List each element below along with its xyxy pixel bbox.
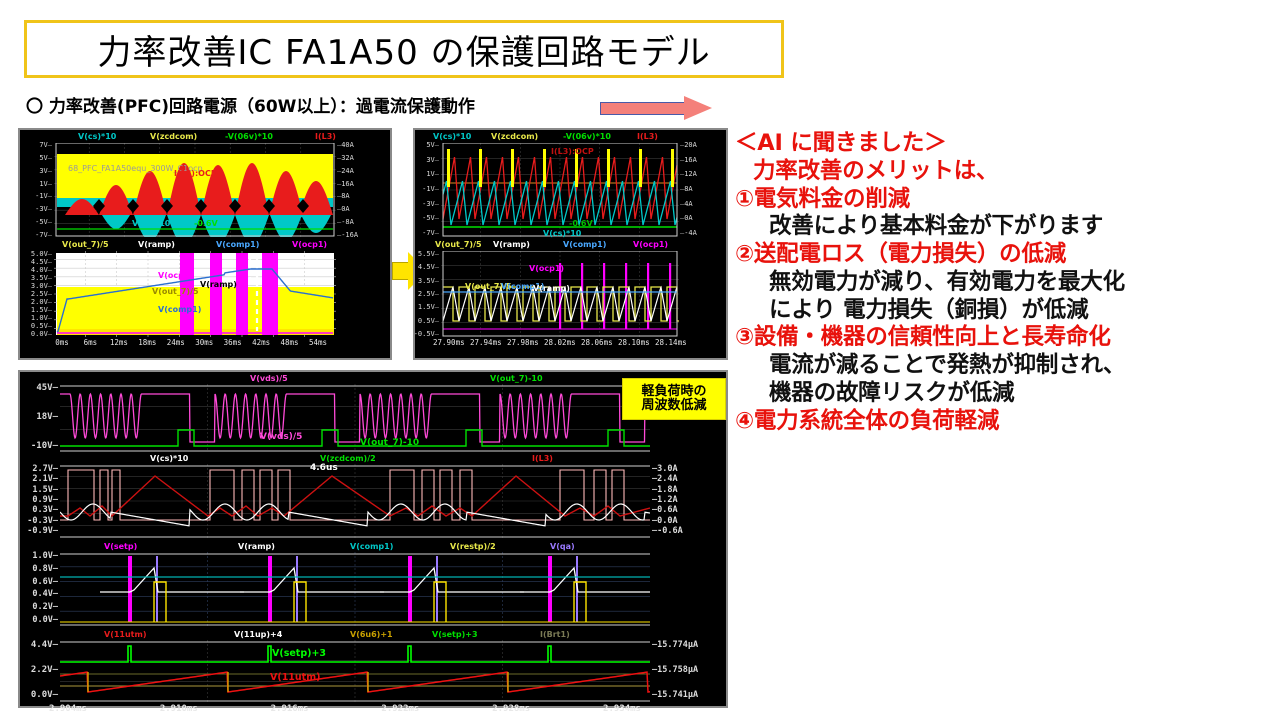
axis-tick-label: 1V–	[411, 170, 439, 178]
legend-label: V(ramp)	[238, 542, 275, 551]
axis-tick-label: –0.6A	[652, 505, 678, 515]
legend-label: V(cs)*10	[433, 132, 471, 141]
note-line-7: により 電力損失（銅損）が低減	[735, 297, 1275, 325]
axis-tick-label: –0A	[337, 205, 350, 213]
legend-label: I(L3)	[315, 132, 336, 141]
legend-label: V(ocp1)	[292, 240, 327, 249]
annotation-ocp: I(L3):OCP	[174, 169, 217, 178]
axis-tick-label: –40A	[337, 141, 354, 149]
annotation-ocp1: V(ocp1)	[158, 271, 193, 280]
axis-tick-label: 18ms	[133, 338, 161, 347]
legend-label: V(out_7)/5	[62, 240, 109, 249]
axis-tick-label: 3V–	[24, 167, 52, 175]
legend-label: V(setp)+3	[432, 630, 478, 639]
axis-tick-label: 1.5V–	[26, 485, 58, 495]
annotation-ocp: I(L3):OCP	[551, 147, 594, 156]
page-title: 力率改善IC FA1A50 の保護回路モデル	[97, 25, 710, 74]
legend-label: -V(06v)*10	[563, 132, 611, 141]
axis-tick-label: 1.0V–	[26, 551, 58, 561]
legend-label: -V(06v)*10	[225, 132, 273, 141]
scope-top-left[interactable]: V(cs)*10V(zcdcom)-V(06v)*10I(L3)7V–5V–3V…	[18, 128, 392, 360]
waveform-bottom-row3	[60, 552, 650, 626]
legend-label: V(ramp)	[138, 240, 175, 249]
axis-tick-label: 36ms	[219, 338, 247, 347]
legend-label: V(zcdcom)/2	[320, 454, 376, 463]
axis-tick-label: 3V–	[411, 156, 439, 164]
axis-tick-label: –16A	[337, 180, 354, 188]
axis-tick-label: -3V–	[24, 205, 52, 213]
axis-tick-label: 2.910ms	[155, 704, 203, 714]
axis-tick-label: –0.0A	[652, 516, 678, 526]
waveform-top-right-upper	[441, 143, 679, 237]
axis-tick-label: 2.5V–	[411, 290, 439, 298]
subtitle-text: 〇 力率改善(PFC)回路電源（60W以上）：過電流保護動作	[26, 92, 475, 117]
legend-label: V(cs)*10	[150, 454, 188, 463]
note-line-1: ＜AI に聞きました＞	[735, 130, 1275, 158]
annotation-11utm: V(11utm)	[270, 672, 320, 683]
axis-tick-label: 12ms	[105, 338, 133, 347]
note-line-5: ②送配電ロス（電力損失）の低減	[735, 241, 1275, 269]
axis-tick-label: –-0.6A	[652, 526, 683, 536]
annotation-ramp: V(ramp)	[200, 280, 237, 289]
axis-tick-label: 28.02ms	[544, 338, 572, 347]
slide-root: 力率改善IC FA1A50 の保護回路モデル 〇 力率改善(PFC)回路電源（6…	[0, 0, 1280, 720]
axis-tick-label: –2.4A	[652, 474, 678, 484]
legend-label: V(6u6)+1	[350, 630, 393, 639]
legend-label: V(vds)/5	[250, 374, 288, 383]
legend-label: V(ramp)	[493, 240, 530, 249]
note-line-10: 機器の故障リスクが低減	[735, 380, 1275, 408]
axis-tick-label: 1.5V–	[411, 303, 439, 311]
legend-label: V(restp)/2	[450, 542, 496, 551]
axis-tick-label: –0A	[680, 214, 693, 222]
axis-tick-label: 4.4V–	[28, 640, 58, 650]
axis-tick-label: 2.0V–	[24, 298, 52, 306]
axis-tick-label: –-4A	[680, 229, 697, 237]
axis-tick-label: –4A	[680, 200, 693, 208]
axis-tick-label: -1V–	[24, 192, 52, 200]
axis-tick-label: -7V–	[411, 229, 439, 237]
axis-tick-label: 27.90ms	[433, 338, 461, 347]
axis-tick-label: –-8A	[337, 218, 354, 226]
legend-label: V(comp1)	[563, 240, 606, 249]
axis-tick-label: –24A	[337, 167, 354, 175]
axis-tick-label: –8A	[337, 192, 350, 200]
legend-label: V(zcdcom)	[491, 132, 538, 141]
axis-tick-label: 0.9V–	[26, 495, 58, 505]
legend-label: V(qa)	[550, 542, 575, 551]
axis-tick-label: –16A	[680, 156, 697, 164]
legend-label: I(L3)	[637, 132, 658, 141]
axis-tick-label: 0.0V–	[26, 615, 58, 625]
annotation-out7: V(out_7)/5	[152, 287, 199, 296]
axis-tick-label: 3.5V–	[411, 277, 439, 285]
axis-tick-label: –32A	[337, 154, 354, 162]
axis-tick-label: –15.758µA	[652, 665, 698, 675]
annotation-ramp: V(ramp)	[533, 284, 570, 293]
axis-tick-label: 45V–	[28, 383, 58, 393]
axis-tick-label: -5V–	[411, 214, 439, 222]
axis-tick-label: 28.10ms	[618, 338, 646, 347]
axis-tick-label: 0.8V–	[26, 564, 58, 574]
axis-tick-label: 1V–	[24, 180, 52, 188]
note-line-2: 力率改善のメリットは、	[735, 158, 1275, 186]
axis-tick-label: 48ms	[276, 338, 304, 347]
axis-tick-label: 0.2V–	[26, 602, 58, 612]
annotation-4-6us: 4.6us	[310, 463, 338, 473]
note-line-11: ④電力系統全体の負荷軽減	[735, 408, 1275, 436]
axis-tick-label: 42ms	[247, 338, 275, 347]
callout-line-1: 軽負荷時の	[641, 385, 706, 399]
callout-light-load: 軽負荷時の 周波数低減	[622, 378, 726, 420]
annotation-ocp1: V(ocp1)	[529, 264, 564, 273]
axis-tick-label: –1.8A	[652, 485, 678, 495]
axis-tick-label: –1.2A	[652, 495, 678, 505]
axis-tick-label: -0.3V–	[26, 516, 58, 526]
axis-tick-label: 0.3V–	[26, 505, 58, 515]
axis-tick-label: 2.7V–	[26, 464, 58, 474]
callout-line-2: 周波数低減	[641, 399, 706, 413]
axis-tick-label: 2.1V–	[26, 474, 58, 484]
axis-tick-label: 5V–	[411, 141, 439, 149]
waveform-bottom-row2	[60, 464, 650, 538]
axis-tick-label: 1.5V–	[24, 306, 52, 314]
annotation-vcs: V(cs)*10	[543, 229, 581, 238]
legend-label: V(zcdcom)	[150, 132, 197, 141]
axis-tick-label: –20A	[680, 141, 697, 149]
axis-tick-label: –3.0A	[652, 464, 678, 474]
axis-tick-label: 28.06ms	[581, 338, 609, 347]
legend-label: V(11up)+4	[234, 630, 282, 639]
axis-tick-label: –15.741µA	[652, 690, 698, 700]
axis-tick-label: 2.2V–	[28, 665, 58, 675]
axis-tick-label: 4.0V–	[24, 266, 52, 274]
legend-label: V(out_7)-10	[490, 374, 543, 383]
axis-tick-label: 0.5V–	[411, 317, 439, 325]
axis-tick-label: 0.4V–	[26, 589, 58, 599]
axis-tick-label: -5V–	[24, 218, 52, 226]
axis-tick-label: 24ms	[162, 338, 190, 347]
axis-tick-label: 0ms	[48, 338, 76, 347]
legend-label: V(11utm)	[104, 630, 147, 639]
annotation-comp1: V(comp1)	[158, 305, 201, 314]
axis-tick-label: 5.5V–	[411, 250, 439, 258]
axis-tick-label: 2.928ms	[487, 704, 535, 714]
axis-tick-label: -3V–	[411, 200, 439, 208]
axis-tick-label: 2.916ms	[266, 704, 314, 714]
axis-tick-label: –12A	[680, 170, 697, 178]
scope-bottom[interactable]: V(vds)/5V(out_7)-1045V–18V–-10V–V(vds)/5…	[18, 370, 728, 708]
axis-tick-label: 54ms	[304, 338, 332, 347]
right-arrow-icon	[600, 97, 715, 119]
axis-tick-label: -0.5V–	[411, 330, 439, 338]
axis-tick-label: 28.14ms	[655, 338, 683, 347]
axis-tick-label: 1.0V–	[24, 314, 52, 322]
axis-tick-label: 4.5V–	[24, 258, 52, 266]
axis-tick-label: 5V–	[24, 154, 52, 162]
axis-tick-label: 4.5V–	[411, 263, 439, 271]
axis-tick-label: -1V–	[411, 185, 439, 193]
legend-label: V(ocp1)	[633, 240, 668, 249]
axis-tick-label: –-16A	[337, 231, 358, 239]
scope-top-right[interactable]: V(cs)*10V(zcdcom)-V(06v)*10I(L3)5V–3V–1V…	[413, 128, 728, 360]
waveform-bottom-row1	[60, 384, 650, 452]
axis-tick-label: 18V–	[28, 412, 58, 422]
note-line-8: ③設備・機器の信頼性向上と長寿命化	[735, 324, 1275, 352]
annotation-06v: -0.6V	[194, 219, 218, 228]
axis-tick-label: 3.0V–	[24, 282, 52, 290]
notes-panel: ＜AI に聞きました＞力率改善のメリットは、①電気料金の削減改善により基本料金が…	[735, 130, 1275, 436]
legend-label: I(L3)	[532, 454, 553, 463]
annotation-out7: V(out_7)-10	[360, 438, 419, 448]
note-line-9: 電流が減ることで発熱が抑制され、	[735, 352, 1275, 380]
annotation-setp3: V(setp)+3	[272, 648, 326, 659]
axis-tick-label: –15.774µA	[652, 640, 698, 650]
axis-tick-label: -7V–	[24, 231, 52, 239]
axis-tick-label: 7V–	[24, 141, 52, 149]
axis-tick-label: 0.6V–	[26, 577, 58, 587]
legend-label: V(cs)*10	[78, 132, 116, 141]
axis-tick-label: -0.9V–	[26, 526, 58, 536]
page-title-box: 力率改善IC FA1A50 の保護回路モデル	[24, 20, 784, 78]
legend-label: I(Brt1)	[540, 630, 570, 639]
annotation-vcs: V(cs)*10	[132, 219, 170, 228]
legend-label: V(setp)	[104, 542, 137, 551]
axis-tick-label: 2.934ms	[598, 704, 646, 714]
axis-tick-label: 2.5V–	[24, 290, 52, 298]
waveform-bottom-row4	[60, 640, 650, 702]
axis-tick-label: 6ms	[76, 338, 104, 347]
note-line-3: ①電気料金の削減	[735, 186, 1275, 214]
axis-tick-label: 0.0V–	[28, 690, 58, 700]
annotation-06v: -0.6V	[569, 219, 593, 228]
axis-tick-label: 27.98ms	[507, 338, 535, 347]
note-line-4: 改善により基本料金が下がります	[735, 213, 1275, 241]
axis-tick-label: 27.94ms	[470, 338, 498, 347]
legend-label: V(comp1)	[216, 240, 259, 249]
axis-tick-label: 0.0V–	[24, 330, 52, 338]
axis-tick-label: 2.922ms	[376, 704, 424, 714]
axis-tick-label: 0.5V–	[24, 322, 52, 330]
legend-label: V(comp1)	[350, 542, 393, 551]
axis-tick-label: 5.0V–	[24, 250, 52, 258]
axis-tick-label: 2.904ms	[44, 704, 92, 714]
axis-tick-label: –8A	[680, 185, 693, 193]
axis-tick-label: -10V–	[28, 441, 58, 451]
note-line-6: 無効電力が減り、有効電力を最大化	[735, 269, 1275, 297]
axis-tick-label: 3.5V–	[24, 274, 52, 282]
axis-tick-label: 30ms	[190, 338, 218, 347]
legend-label: V(out_7)/5	[435, 240, 482, 249]
annotation-vds: V(vds)/5	[260, 432, 302, 442]
